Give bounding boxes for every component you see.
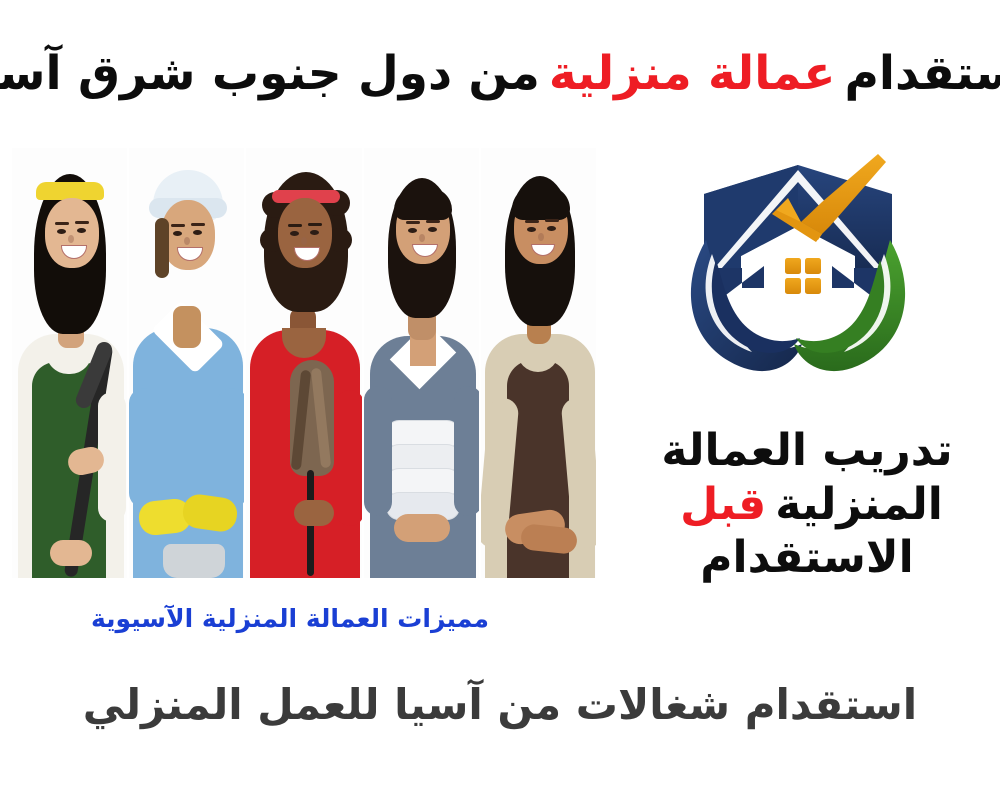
training-line2-after: الاستقدام xyxy=(700,532,914,583)
training-line-2: المنزليةقبلالاستقدام xyxy=(614,478,1000,585)
window-icon xyxy=(785,258,821,294)
poster-root: استقدامعمالة منزليةمن دول جنوب شرق آسيا xyxy=(0,0,1000,800)
training-line-1: تدريب العمالة xyxy=(614,424,1000,478)
worker-photo-collage xyxy=(12,148,596,578)
training-line2-highlight: قبل xyxy=(680,479,766,530)
page-title: استقدامعمالة منزليةمن دول جنوب شرق آسيا xyxy=(0,34,1000,114)
worker-photo-1 xyxy=(481,148,596,578)
headline-text: استقدامعمالة منزليةمن دول جنوب شرق آسيا xyxy=(0,47,1000,101)
headline-part2: من دول جنوب شرق آسيا xyxy=(0,46,540,101)
bottom-caption: استقدام شغالات من آسيا للعمل المنزلي xyxy=(0,680,1000,729)
training-line2-before: المنزلية xyxy=(775,479,943,530)
worker-photo-3 xyxy=(246,148,361,578)
blue-subtitle: مميزات العمالة المنزلية الآسيوية xyxy=(10,604,570,633)
worker-photo-4 xyxy=(129,148,244,578)
headline-highlight: عمالة منزلية xyxy=(549,46,836,101)
headline-part1: استقدام xyxy=(844,46,1000,101)
training-headline: تدريب العمالة المنزليةقبلالاستقدام xyxy=(614,424,1000,585)
worker-photo-2 xyxy=(364,148,479,578)
worker-photo-5 xyxy=(12,148,127,578)
house-shield-hands-logo xyxy=(672,148,924,400)
